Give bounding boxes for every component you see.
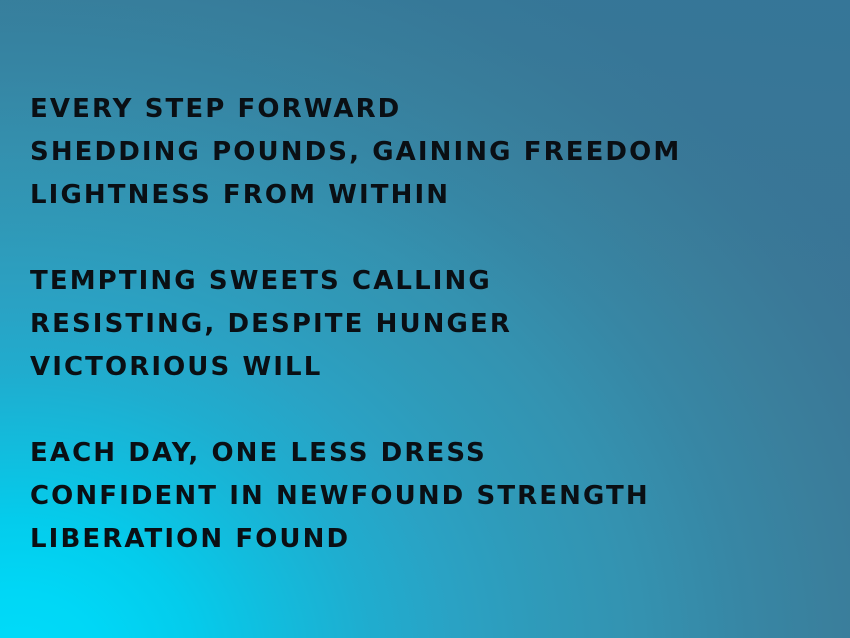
poem-line: VICTORIOUS WILL xyxy=(30,346,820,389)
poem-stanza: EVERY STEP FORWARD SHEDDING POUNDS, GAIN… xyxy=(30,88,820,217)
poem-line: LIBERATION FOUND xyxy=(30,518,820,561)
poem-line: EACH DAY, ONE LESS DRESS xyxy=(30,432,820,475)
poem-line: CONFIDENT IN NEWFOUND STRENGTH xyxy=(30,475,820,518)
poem-stanza: EACH DAY, ONE LESS DRESS CONFIDENT IN NE… xyxy=(30,432,820,561)
poem-line: RESISTING, DESPITE HUNGER xyxy=(30,303,820,346)
poem-body: EVERY STEP FORWARD SHEDDING POUNDS, GAIN… xyxy=(30,88,820,561)
poem-stanza: TEMPTING SWEETS CALLING RESISTING, DESPI… xyxy=(30,260,820,389)
poem-line: LIGHTNESS FROM WITHIN xyxy=(30,174,820,217)
poem-poster: EVERY STEP FORWARD SHEDDING POUNDS, GAIN… xyxy=(0,0,850,638)
poem-line: SHEDDING POUNDS, GAINING FREEDOM xyxy=(30,131,820,174)
poem-line: TEMPTING SWEETS CALLING xyxy=(30,260,820,303)
poem-line: EVERY STEP FORWARD xyxy=(30,88,820,131)
